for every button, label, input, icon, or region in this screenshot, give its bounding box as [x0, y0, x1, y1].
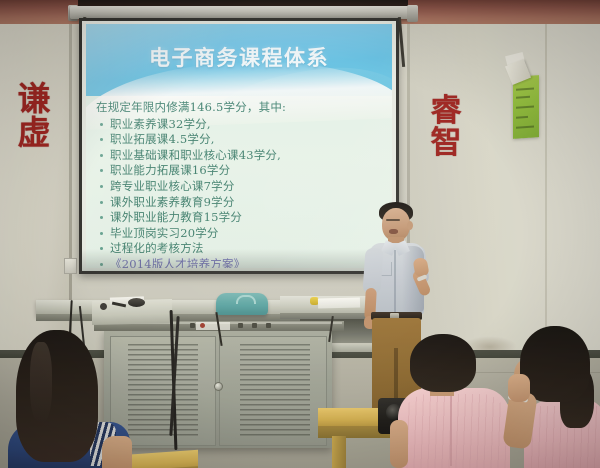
slide-lead-text: 在规定年限内修满146.5学分，其中:: [96, 100, 386, 116]
slide-bullet: 职业能力拓展课16学分: [96, 163, 386, 179]
poster-text-line: [516, 125, 534, 128]
bag-handle: [236, 295, 256, 304]
slide-body: 在规定年限内修满146.5学分，其中: 职业素养课32学分, 职业拓展课4.5学…: [96, 100, 386, 268]
slide-bullet: 职业基础课和职业核心课43学分,: [96, 148, 386, 164]
classroom-photo: 谦 虚 睿 智 电子商务课程体系 在规定年限内修满146.5学分，其中: 职业素…: [0, 0, 600, 468]
slide-bullet: 课外职业素养教育9学分: [96, 195, 386, 211]
lectern-knob[interactable]: [100, 303, 107, 310]
student-far-right-hand: [508, 374, 530, 402]
microphone[interactable]: [128, 298, 145, 307]
student-center-right: [398, 334, 516, 468]
slide-bullet: 跨专业职业核心课7学分: [96, 179, 386, 195]
wall-seam-right-2: [545, 24, 547, 354]
calligraphy-char: 虚: [12, 116, 56, 150]
cabinet-vent-right: [240, 344, 310, 438]
slide-bullet-list: 职业素养课32学分, 职业拓展课4.5学分, 职业基础课和职业核心课43学分, …: [96, 117, 386, 268]
slide-title: 电子商务课程体系: [86, 42, 392, 72]
student-center-right-hair: [410, 334, 476, 392]
screen-housing-cap-right: [407, 5, 418, 22]
student-left-hair-highlight: [30, 342, 52, 422]
slide-bullet: 毕业顶岗实习20学分: [96, 226, 386, 242]
slide-hyperlink[interactable]: 《2014版人才培养方案》: [96, 257, 386, 268]
paper-on-table: [318, 297, 360, 308]
calligraphy-char: 智: [425, 128, 467, 160]
cabinet-button[interactable]: [252, 323, 257, 328]
student-left-hair: [16, 330, 98, 462]
cabinet-vent-left: [128, 344, 198, 438]
presenter-ear: [407, 221, 413, 230]
poster-text-line: [516, 116, 528, 118]
wall-calligraphy-left: 谦 虚: [12, 82, 56, 149]
presentation-slide: 电子商务课程体系 在规定年限内修满146.5学分，其中: 职业素养课32学分, …: [86, 24, 392, 268]
presenter-right-hand: [413, 257, 430, 277]
cabinet-button[interactable]: [238, 323, 243, 328]
presenter-brow: [386, 219, 400, 221]
projector-screen-surface: 电子商务课程体系 在规定年限内修满146.5学分，其中: 职业素养课32学分, …: [82, 21, 396, 271]
student-left: [6, 330, 136, 468]
wall-outlet: [64, 258, 77, 274]
poster-text-line: [516, 105, 534, 108]
slide-bullet: 职业拓展课4.5学分,: [96, 132, 386, 148]
cabinet-lock[interactable]: [214, 382, 223, 391]
poster-text-line: [516, 96, 530, 98]
slide-bullet: 课外职业能力教育15学分: [96, 210, 386, 226]
cabinet-button[interactable]: [190, 323, 195, 328]
student-desk-middle-leg: [332, 436, 346, 468]
student-center-right-seam: [450, 396, 452, 466]
cabinet-label-dot: [200, 323, 205, 328]
student-center-right-pleats: [402, 394, 506, 468]
presenter-mouth: [389, 229, 398, 234]
cabinet-button[interactable]: [266, 323, 271, 328]
calligraphy-char: 谦: [12, 82, 56, 116]
calligraphy-char: 睿: [425, 96, 467, 128]
presenter-shirt-placket: [394, 250, 396, 312]
slide-bullet: 过程化的考核方法: [96, 241, 386, 257]
wall-calligraphy-right: 睿 智: [425, 96, 467, 159]
student-far-right-hair: [520, 326, 590, 402]
wall-poster: [513, 75, 539, 139]
student-left-arm: [102, 436, 132, 468]
poster-text-line: [516, 87, 534, 90]
student-far-right: [506, 326, 600, 468]
slide-bullet: 职业素养课32学分,: [96, 117, 386, 133]
student-center-right-arm: [390, 420, 408, 468]
